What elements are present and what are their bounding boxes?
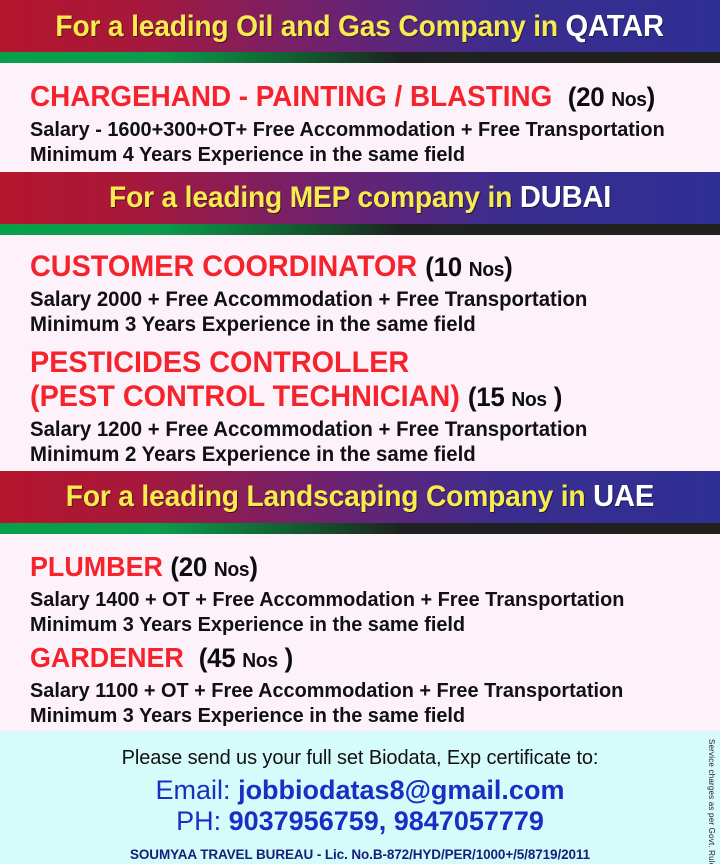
- job-salary: Salary 2000 + Free Accommodation + Free …: [30, 287, 686, 312]
- count-close: ): [504, 252, 512, 282]
- banner-bar: For a leading Oil and Gas Company in QAT…: [0, 0, 720, 52]
- job-title-secondary: (PEST CONTROL TECHNICIAN) (15 Nos ): [30, 380, 679, 417]
- section-banner-uae: For a leading Landscaping Company in UAE: [0, 471, 720, 534]
- job-entry: GARDENER (45 Nos ) Salary 1100 + OT + Fr…: [0, 637, 720, 728]
- email-address[interactable]: jobbiodatas8@gmail.com: [238, 775, 564, 805]
- job-count: (20 Nos): [170, 552, 257, 582]
- job-experience: Minimum 3 Years Experience in the same f…: [30, 612, 686, 637]
- email-label: Email:: [156, 775, 239, 805]
- job-count: (20 Nos): [568, 82, 655, 112]
- count-unit: Nos: [611, 89, 646, 111]
- job-list-uae: PLUMBER (20 Nos) Salary 1400 + OT + Free…: [0, 534, 720, 728]
- job-salary: Salary 1100 + OT + Free Accommodation + …: [30, 678, 686, 703]
- banner-prefix: For a leading Landscaping Company in: [66, 480, 593, 513]
- count-open: (: [170, 552, 178, 582]
- banner-country: DUBAI: [520, 179, 611, 214]
- count-unit: Nos: [214, 559, 249, 581]
- banner-bar: For a leading Landscaping Company in UAE: [0, 471, 720, 523]
- banner-stripe: [0, 52, 720, 63]
- banner-prefix: For a leading MEP company in: [109, 181, 520, 214]
- count-number: 15: [476, 382, 511, 412]
- footer-email-line: Email: jobbiodatas8@gmail.com: [0, 774, 720, 806]
- banner-prefix: For a leading Oil and Gas Company in: [56, 10, 566, 43]
- job-title: CUSTOMER COORDINATOR (10 Nos): [30, 250, 679, 287]
- count-open: (: [468, 382, 476, 412]
- footer-phone-line: PH: 9037956759, 9847057779: [0, 806, 720, 837]
- count-unit: Nos: [511, 389, 546, 411]
- banner-country: UAE: [593, 478, 654, 513]
- count-close: ): [647, 82, 655, 112]
- banner-heading: For a leading Oil and Gas Company in QAT…: [56, 11, 664, 42]
- job-list-dubai: CUSTOMER COORDINATOR (10 Nos) Salary 200…: [0, 235, 720, 467]
- job-title-text: PESTICIDES CONTROLLER: [30, 346, 409, 379]
- section-banner-dubai: For a leading MEP company in DUBAI: [0, 172, 720, 235]
- job-count: (10 Nos): [425, 252, 512, 282]
- count-number: 20: [576, 82, 611, 112]
- count-close: ): [249, 552, 257, 582]
- phone-label: PH:: [176, 806, 229, 836]
- job-title: GARDENER (45 Nos ): [30, 641, 679, 678]
- count-number: 45: [207, 643, 242, 673]
- job-entry: PESTICIDES CONTROLLER (PEST CONTROL TECH…: [0, 337, 720, 467]
- job-title: PESTICIDES CONTROLLER: [30, 346, 679, 380]
- job-title: PLUMBER (20 Nos): [30, 550, 679, 587]
- job-entry: CUSTOMER COORDINATOR (10 Nos) Salary 200…: [0, 250, 720, 337]
- banner-heading: For a leading MEP company in DUBAI: [109, 182, 611, 213]
- job-experience: Minimum 3 Years Experience in the same f…: [30, 312, 686, 337]
- service-charge-note: Service charges as per Govt. Rules: [707, 739, 716, 864]
- job-experience: Minimum 4 Years Experience in the same f…: [30, 142, 686, 167]
- footer-instruction: Please send us your full set Biodata, Ex…: [0, 745, 720, 771]
- job-title: CHARGEHAND - PAINTING / BLASTING (20 Nos…: [30, 80, 679, 117]
- section-banner-qatar: For a leading Oil and Gas Company in QAT…: [0, 0, 720, 63]
- count-close: ): [547, 382, 562, 412]
- job-experience: Minimum 3 Years Experience in the same f…: [30, 703, 686, 728]
- count-open: (: [568, 82, 576, 112]
- job-title-text: GARDENER: [30, 642, 184, 673]
- count-unit: Nos: [242, 650, 277, 672]
- banner-heading: For a leading Landscaping Company in UAE: [66, 481, 654, 512]
- count-unit: Nos: [469, 259, 504, 281]
- count-number: 10: [434, 252, 469, 282]
- banner-stripe: [0, 523, 720, 534]
- contact-footer: Please send us your full set Biodata, Ex…: [0, 731, 720, 864]
- agency-license: SOUMYAA TRAVEL BUREAU - Lic. No.B-872/HY…: [0, 846, 720, 864]
- banner-country: QATAR: [566, 8, 664, 43]
- job-salary: Salary 1200 + Free Accommodation + Free …: [30, 417, 686, 442]
- banner-stripe: [0, 224, 720, 235]
- job-list-qatar: CHARGEHAND - PAINTING / BLASTING (20 Nos…: [0, 63, 720, 167]
- job-entry: CHARGEHAND - PAINTING / BLASTING (20 Nos…: [0, 80, 720, 167]
- job-salary: Salary 1400 + OT + Free Accommodation + …: [30, 587, 686, 612]
- job-title-text: CUSTOMER COORDINATOR: [30, 250, 417, 283]
- job-title-text: PLUMBER: [30, 551, 163, 582]
- job-count: (15 Nos ): [468, 382, 562, 412]
- banner-bar: For a leading MEP company in DUBAI: [0, 172, 720, 224]
- phone-numbers[interactable]: 9037956759, 9847057779: [229, 806, 544, 836]
- job-count: (45 Nos ): [199, 643, 293, 673]
- job-title-text: CHARGEHAND - PAINTING / BLASTING: [30, 81, 552, 113]
- count-open: (: [199, 643, 207, 673]
- count-number: 20: [179, 552, 214, 582]
- job-experience: Minimum 2 Years Experience in the same f…: [30, 442, 686, 467]
- job-advertisement: For a leading Oil and Gas Company in QAT…: [0, 0, 720, 864]
- job-title-text-line2: (PEST CONTROL TECHNICIAN): [30, 380, 460, 413]
- job-entry: PLUMBER (20 Nos) Salary 1400 + OT + Free…: [0, 550, 720, 637]
- count-close: ): [278, 643, 293, 673]
- job-salary: Salary - 1600+300+OT+ Free Accommodation…: [30, 117, 686, 142]
